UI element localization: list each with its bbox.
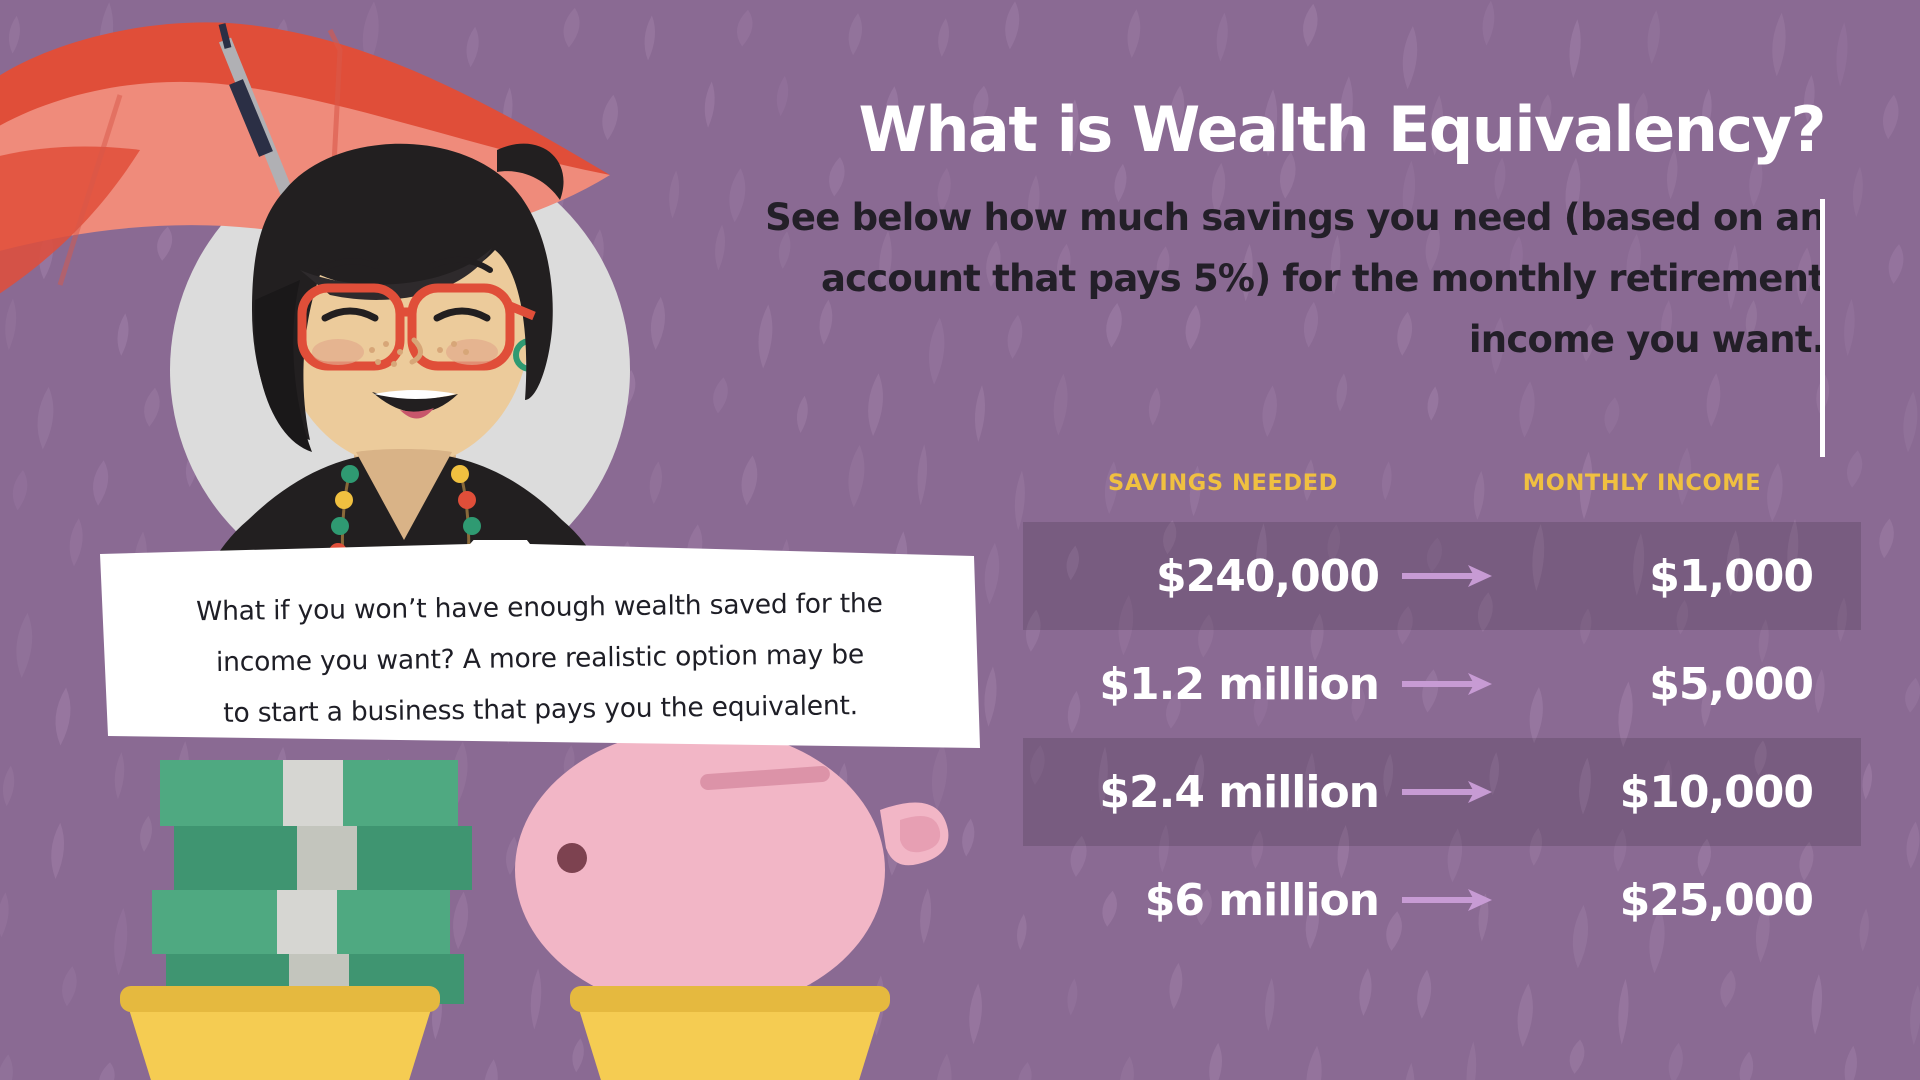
right-arrow-icon	[1402, 563, 1494, 589]
right-arrow-icon	[1402, 779, 1494, 805]
table-row: $1.2 million $5,000	[1023, 630, 1861, 738]
savings-value: $240,000	[1023, 551, 1393, 602]
page-subtitle: See below how much savings you need (bas…	[695, 187, 1825, 370]
title-divider	[1820, 199, 1825, 457]
savings-value: $6 million	[1023, 875, 1393, 926]
speech-bubble: What if you won’t have enough wealth sav…	[100, 540, 980, 755]
table-header-row: SAVINGS NEEDED MONTHLY INCOME	[1023, 470, 1861, 522]
header-block: What is Wealth Equivalency? See below ho…	[695, 95, 1825, 370]
income-value: $10,000	[1503, 767, 1861, 818]
column-header-income: MONTHLY INCOME	[1423, 470, 1861, 496]
table-row: $6 million $25,000	[1023, 846, 1861, 954]
table-row: $2.4 million $10,000	[1023, 738, 1861, 846]
savings-value: $2.4 million	[1023, 767, 1393, 818]
speech-bubble-text: What if you won’t have enough wealth sav…	[139, 577, 941, 740]
income-value: $25,000	[1503, 875, 1861, 926]
right-arrow-icon	[1402, 887, 1494, 913]
table-row: $240,000 $1,000	[1023, 522, 1861, 630]
column-header-savings: SAVINGS NEEDED	[1023, 470, 1423, 496]
income-value: $1,000	[1503, 551, 1861, 602]
row-arrow	[1393, 563, 1503, 589]
row-arrow	[1393, 779, 1503, 805]
right-arrow-icon	[1402, 671, 1494, 697]
scale-pan-left	[120, 986, 440, 1080]
row-arrow	[1393, 671, 1503, 697]
money-stack-icon	[152, 760, 472, 1004]
page-title: What is Wealth Equivalency?	[695, 95, 1825, 165]
income-value: $5,000	[1503, 659, 1861, 710]
row-arrow	[1393, 887, 1503, 913]
equivalency-table: SAVINGS NEEDED MONTHLY INCOME $240,000 $…	[1023, 470, 1861, 954]
savings-value: $1.2 million	[1023, 659, 1393, 710]
bubble-line-3: to start a business that pays you the eq…	[140, 679, 941, 740]
